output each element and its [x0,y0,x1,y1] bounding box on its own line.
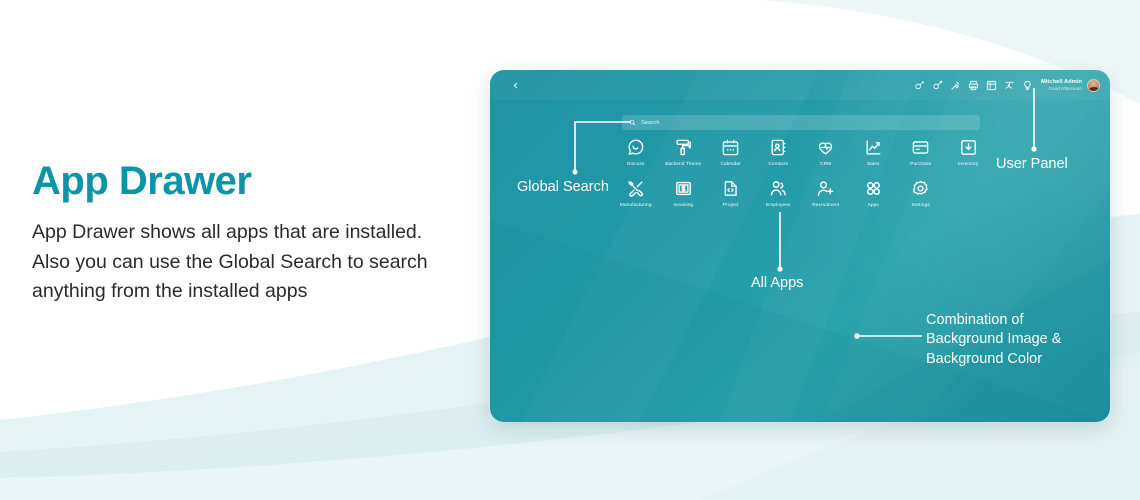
user-greeting: Good Afternoon [1041,86,1082,91]
user-name: Mitchell Admin [1041,79,1082,85]
annotation-leader-all-apps [770,212,790,274]
global-search-input[interactable]: Search [622,115,980,130]
annotation-all-apps: All Apps [751,274,803,293]
app-item-calendar[interactable]: Calendar [707,138,755,166]
user-text: Mitchell Admin Good Afternoon [1041,79,1082,90]
app-item-recruitment[interactable]: Recruitment [802,179,850,207]
recruitment-icon [816,179,835,198]
annotation-label: User Panel [996,155,1068,174]
app-label: Employees [766,202,791,207]
invoicing-icon [674,179,693,198]
annotation-label: All Apps [751,274,803,293]
annotation-leader-global-search [565,116,635,176]
project-icon [721,179,740,198]
panel-header: Mitchell Admin Good Afternoon [490,70,1110,100]
app-label: Backend Theme [665,161,701,166]
app-item-inventory[interactable]: Inventory [945,138,993,166]
messages-icon[interactable] [932,80,943,91]
app-label: Apps [868,202,879,207]
app-label: Sales [867,161,879,166]
search-placeholder: Search [641,120,660,126]
app-label: Invoicing [673,202,693,207]
calendar-icon [721,138,740,157]
settings-icon [911,179,930,198]
backend-theme-icon [674,138,693,157]
activities-icon[interactable] [950,80,961,91]
annotation-label: Global Search [517,178,609,197]
app-label: Contacts [768,161,788,166]
annotation-label: Combination of Background Image & Backgr… [926,311,1061,369]
grid-icon[interactable] [986,80,997,91]
annotation-combination: Combination of Background Image & Backgr… [926,311,1061,369]
app-item-apps[interactable]: Apps [850,179,898,207]
apps-icon [864,179,883,198]
copy-block: App Drawer App Drawer shows all apps tha… [32,160,432,307]
app-item-project[interactable]: Project [707,179,755,207]
slide-canvas: App Drawer App Drawer shows all apps tha… [0,0,1140,500]
annotation-global-search: Global Search [517,178,609,197]
bug-icon[interactable] [914,80,925,91]
page-description: App Drawer shows all apps that are insta… [32,218,432,307]
language-icon[interactable] [1004,80,1015,91]
app-label: Recruitment [812,202,839,207]
app-item-manufacturing[interactable]: Manufacturing [612,179,660,207]
app-item-backend-theme[interactable]: Backend Theme [660,138,708,166]
inventory-icon [959,138,978,157]
app-item-settings[interactable]: Settings [897,179,945,207]
app-item-employees[interactable]: Employees [755,179,803,207]
app-label: Settings [912,202,930,207]
app-item-invoicing[interactable]: Invoicing [660,179,708,207]
page-title: App Drawer [32,160,432,202]
header-icon-group [914,80,1033,91]
app-label: Manufacturing [620,202,652,207]
chevron-left-icon[interactable] [508,78,522,92]
app-label: Calendar [721,161,741,166]
sales-icon [864,138,883,157]
app-item-contacts[interactable]: Contacts [755,138,803,166]
print-icon[interactable] [968,80,979,91]
app-label: Purchase [910,161,931,166]
app-item-crm[interactable]: CRM [802,138,850,166]
user-panel[interactable]: Mitchell Admin Good Afternoon [1041,79,1100,92]
app-item-purchase[interactable]: Purchase [897,138,945,166]
app-grid: Discuss Backend Theme [612,138,992,207]
avatar[interactable] [1087,79,1100,92]
annotation-user-panel: User Panel [996,155,1068,174]
app-label: CRM [820,161,831,166]
crm-icon [816,138,835,157]
app-label: Inventory [958,161,979,166]
manufacturing-icon [626,179,645,198]
app-item-sales[interactable]: Sales [850,138,898,166]
contacts-icon [769,138,788,157]
purchase-icon [911,138,930,157]
annotation-leader-user-panel [1024,88,1044,156]
annotation-leader-combination [852,330,926,342]
employees-icon [769,179,788,198]
app-label: Project [723,202,739,207]
